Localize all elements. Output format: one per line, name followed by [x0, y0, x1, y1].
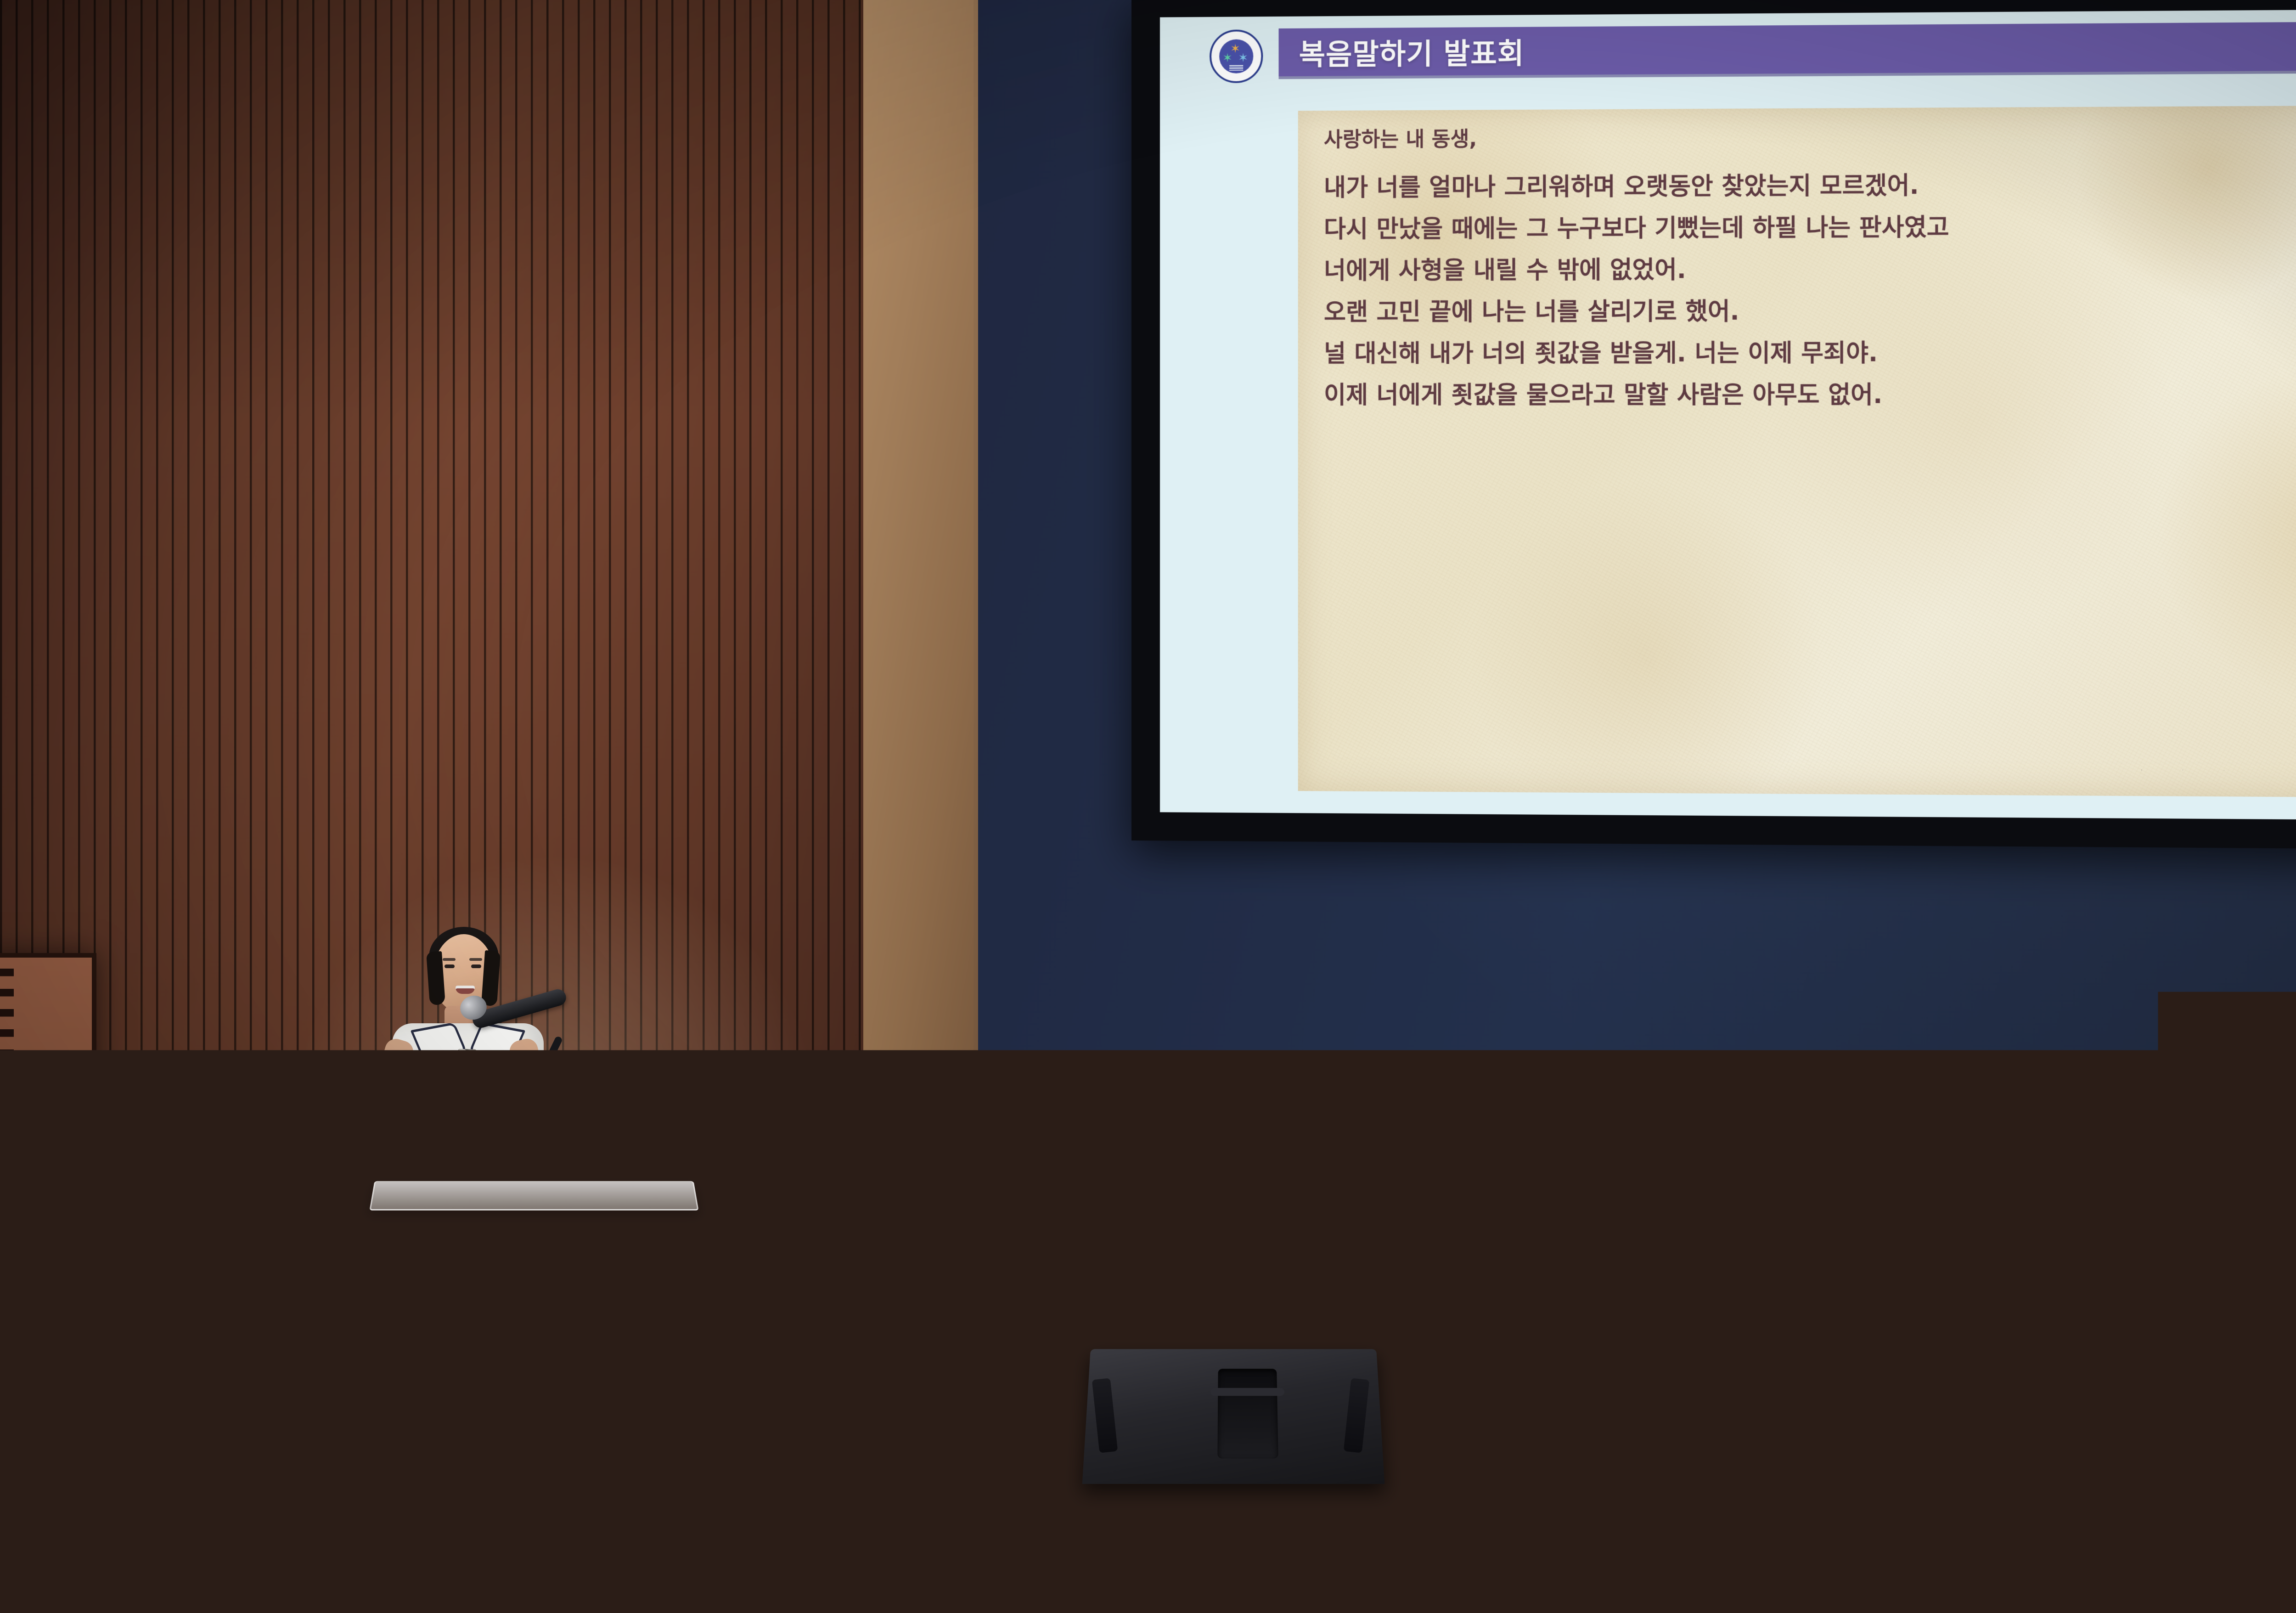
- seal-podium-base-icon: [1229, 65, 1243, 71]
- letter-line-3: 너에게 사형을 내릴 수 밖에 없었어.: [1324, 256, 2296, 283]
- lectern-school-seal-icon: LINCOLN MIDDLE & HIGH SCHOOL ✶ ✶ ✶ 링컨중 ·…: [509, 1565, 583, 1613]
- parchment-letter-card: 사랑하는 내 동생, 내가 너를 얼마나 그리워하며 오랫동안 찾았는지 모르겠…: [1298, 105, 2296, 798]
- letter-line-6: 이제 너에게 죗값을 물으라고 말할 사람은 아무도 없어.: [1324, 383, 2296, 407]
- coiled-cable-bundle-2: [1919, 1510, 2014, 1540]
- presenter-eye-right: [471, 964, 481, 968]
- xlr-connector-2: [1906, 1524, 1926, 1534]
- computer-monitor-rear: SAMSUNG: [501, 1300, 854, 1497]
- presenter-eye-left: [445, 964, 455, 968]
- seal-star-green-icon: ✶: [1222, 52, 1232, 64]
- lectern-seal-english-text: LINCOLN MIDDLE & HIGH SCHOOL: [512, 1572, 580, 1584]
- stage-floor-monitor-speaker: [1070, 1346, 1391, 1543]
- uniform-name-bar: [479, 1128, 523, 1137]
- school-seal-icon: ✶ ✶ ✶: [1210, 29, 1263, 83]
- wedge-knob-1[interactable]: [1253, 1504, 1260, 1511]
- projection-screen-surface: ✶ ✶ ✶ 복음말하기 발표회 사랑하는 내 동생, 내가 너를 얼마나 그리워…: [1160, 8, 2296, 821]
- slide-title-bar: 복음말하기 발표회: [1279, 21, 2296, 76]
- floor-cable-5: [2011, 1523, 2204, 1545]
- seal-star-blue-icon: ✶: [1238, 52, 1248, 64]
- monitor-vesa-mount: [628, 1359, 730, 1430]
- uniform-crest-badge-icon: [487, 1144, 510, 1167]
- wood-wall-secondary: [863, 0, 978, 1387]
- letter-line-4: 오랜 고민 끝에 나는 너를 살리기로 했어.: [1324, 299, 2296, 325]
- letter-line-1: 내가 너를 얼마나 그리워하며 오랫동안 찾았는지 모르겠어.: [1324, 172, 2296, 200]
- wedge-knob-3[interactable]: [1296, 1504, 1303, 1511]
- slide-title: 복음말하기 발표회: [1299, 30, 1525, 73]
- microphone-gooseneck-stand: [547, 1056, 647, 1179]
- artwork-upper-field: [0, 958, 92, 1249]
- letter-line-2: 다시 만났을 때에는 그 누구보다 기뻤는데 하필 나는 판사였고: [1324, 214, 2296, 242]
- presenter-mouth: [456, 986, 475, 994]
- wedge-knob-2[interactable]: [1253, 1483, 1260, 1491]
- school-seal-emblem: ✶ ✶ ✶: [1219, 39, 1253, 73]
- auditorium-presentation-photo: ✶ ✶ ✶ 복음말하기 발표회 사랑하는 내 동생, 내가 너를 얼마나 그리워…: [0, 0, 2296, 1613]
- monitor-back-panel: SAMSUNG: [501, 1300, 854, 1458]
- cable-connector-block-1: [638, 1534, 693, 1544]
- xlr-connector-1: [800, 1522, 820, 1532]
- stage-front-face-panels: [808, 1359, 2296, 1497]
- letter-text-block: 사랑하는 내 동생, 내가 너를 얼마나 그리워하며 오랫동안 찾았는지 모르겠…: [1324, 125, 2296, 425]
- lectern-seal-star-gold-icon: ✶: [540, 1585, 551, 1598]
- presenter-hair-side-right: [481, 950, 501, 1006]
- presenter-eyebrow-left: [443, 958, 456, 961]
- slide-header: ✶ ✶ ✶ 복음말하기 발표회: [1160, 8, 2296, 87]
- acrylic-lectern-reading-surface: [369, 1181, 698, 1211]
- wedge-amplifier-panel[interactable]: [1166, 1480, 1320, 1517]
- lectern-seal-star-blue-icon: ✶: [552, 1596, 563, 1610]
- presenter-eyebrow-right: [469, 958, 482, 961]
- monitor-vent-groove: [557, 1340, 795, 1344]
- acrylic-lectern-base: [408, 1509, 605, 1529]
- wedge-grille-face: [1082, 1349, 1385, 1484]
- lectern-seal-star-green-icon: ✶: [527, 1596, 539, 1610]
- wedge-power-led-icon: [1277, 1492, 1282, 1497]
- monitor-brand-label: SAMSUNG: [565, 1378, 619, 1387]
- letter-line-5: 널 대신해 내가 너의 죗값을 받을게. 너는 이제 무죄야.: [1324, 340, 2296, 366]
- wedge-carry-handle: [1217, 1369, 1278, 1458]
- monitor-stand-neck: [665, 1456, 683, 1494]
- letter-salutation: 사랑하는 내 동생,: [1324, 125, 2296, 150]
- floor-cable-1: [377, 1529, 569, 1551]
- artwork-tick-marks-left: [0, 969, 14, 1249]
- projection-screen-frame: ✶ ✶ ✶ 복음말하기 발표회 사랑하는 내 동생, 내가 너를 얼마나 그리워…: [1131, 0, 2296, 850]
- monitor-control-joystick[interactable]: [772, 1369, 790, 1426]
